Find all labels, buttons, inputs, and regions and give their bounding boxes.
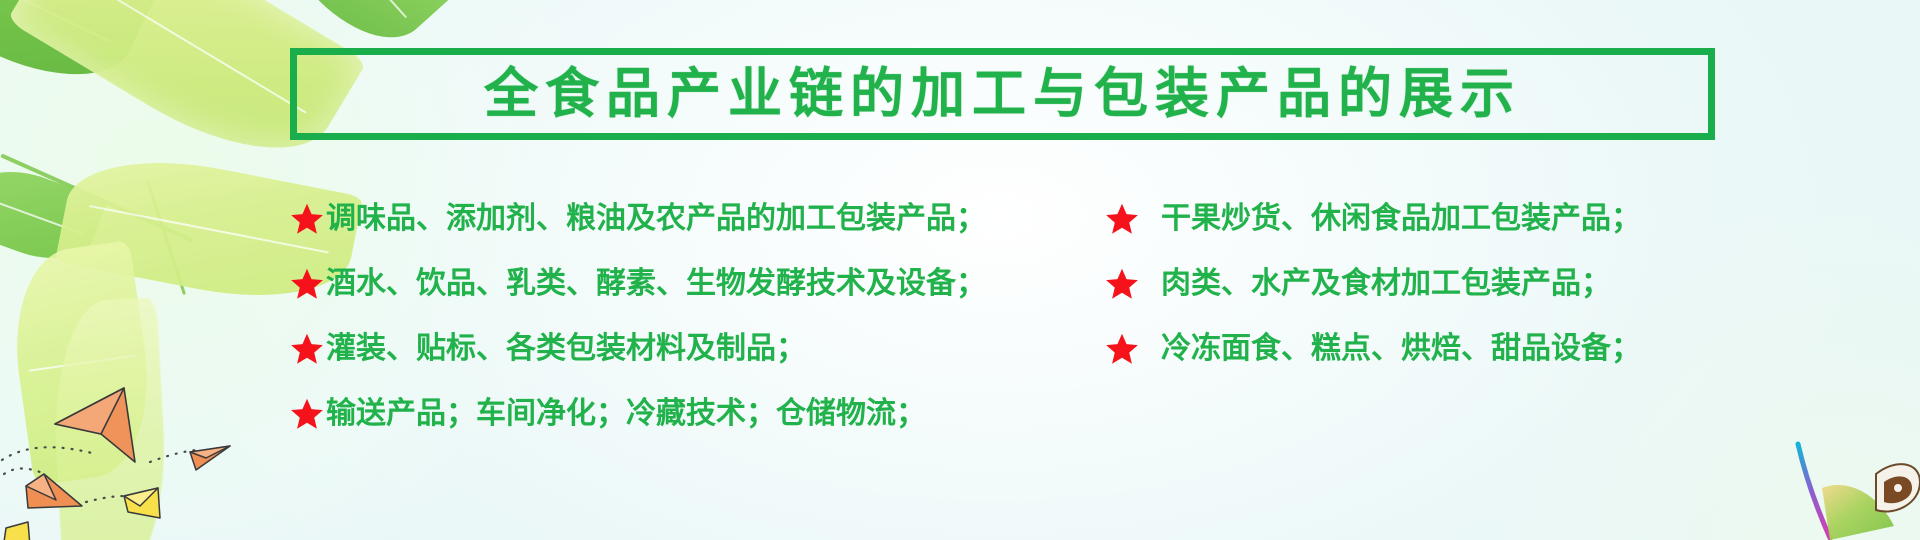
list-item-label: 调味品、添加剂、粮油及农产品的加工包装产品； — [326, 204, 986, 234]
leaf-icon — [3, 240, 162, 486]
list-item[interactable]: 调味品、添加剂、粮油及农产品的加工包装产品； — [290, 186, 1105, 251]
paper-planes-decoration — [0, 350, 300, 540]
title-box: 全食品产业链的加工与包装产品的展示 — [290, 48, 1715, 140]
list-item-label: 冷冻面食、糕点、烘焙、甜品设备； — [1161, 334, 1641, 364]
bullet-column-right: 干果炒货、休闲食品加工包装产品； 肉类、水产及食材加工包装产品； 冷冻面食、糕点… — [1105, 186, 1770, 446]
star-icon — [290, 397, 324, 431]
plane-trail — [150, 450, 196, 462]
list-item-label: 酒水、饮品、乳类、酵素、生物发酵技术及设备； — [326, 269, 986, 299]
leaf-vein — [29, 355, 136, 371]
list-item[interactable]: 冷冻面食、糕点、烘焙、甜品设备； — [1105, 316, 1770, 381]
grass-leaf-icon — [1822, 485, 1894, 540]
paper-plane-icon — [4, 522, 30, 540]
bullet-column-left: 调味品、添加剂、粮油及农产品的加工包装产品； 酒水、饮品、乳类、酵素、生物发酵技… — [290, 186, 1105, 446]
list-item[interactable]: 干果炒货、休闲食品加工包装产品； — [1105, 186, 1770, 251]
list-item[interactable]: 酒水、饮品、乳类、酵素、生物发酵技术及设备； — [290, 251, 1105, 316]
star-icon — [290, 202, 324, 236]
leaf-vein — [0, 0, 112, 43]
star-icon — [290, 332, 324, 366]
leaf-vein — [68, 0, 306, 113]
leaf-vein — [0, 195, 84, 234]
paper-plane-icon — [26, 474, 82, 508]
leaf-icon — [0, 0, 157, 107]
leaf-icon — [0, 156, 107, 274]
list-item[interactable]: 输送产品；车间净化；冷藏技术；仓储物流； — [290, 381, 1105, 446]
star-icon — [1105, 267, 1139, 301]
plane-trail — [86, 496, 126, 502]
list-item-label: 肉类、水产及食材加工包装产品； — [1161, 269, 1611, 299]
paper-plane-icon — [124, 488, 160, 518]
list-item-label: 输送产品；车间净化；冷藏技术；仓储物流； — [326, 399, 926, 429]
list-item-label: 干果炒货、休闲食品加工包装产品； — [1161, 204, 1641, 234]
plane-trail — [2, 447, 96, 460]
bullet-columns: 调味品、添加剂、粮油及农产品的加工包装产品； 酒水、饮品、乳类、酵素、生物发酵技… — [290, 186, 1770, 446]
grass-blade-icon — [1798, 444, 1830, 538]
leaf-icon — [49, 297, 172, 540]
butterfly-icon — [1876, 464, 1920, 511]
list-item[interactable]: 肉类、水产及食材加工包装产品； — [1105, 251, 1770, 316]
leaf-vein — [299, 0, 407, 18]
paper-plane-icon — [190, 446, 230, 470]
star-icon — [1105, 202, 1139, 236]
promo-banner: 全食品产业链的加工与包装产品的展示 调味品、添加剂、粮油及农产品的加工包装产品；… — [0, 0, 1920, 540]
paper-plane-icon — [55, 388, 135, 462]
plane-trail — [4, 469, 40, 475]
list-item-label: 灌装、贴标、各类包装材料及制品； — [326, 334, 806, 364]
page-title: 全食品产业链的加工与包装产品的展示 — [484, 67, 1521, 121]
leaf-stem — [146, 180, 186, 295]
star-icon — [290, 267, 324, 301]
star-icon — [1105, 332, 1139, 366]
leaf-stem — [0, 153, 193, 242]
list-item[interactable]: 灌装、贴标、各类包装材料及制品； — [290, 316, 1105, 381]
